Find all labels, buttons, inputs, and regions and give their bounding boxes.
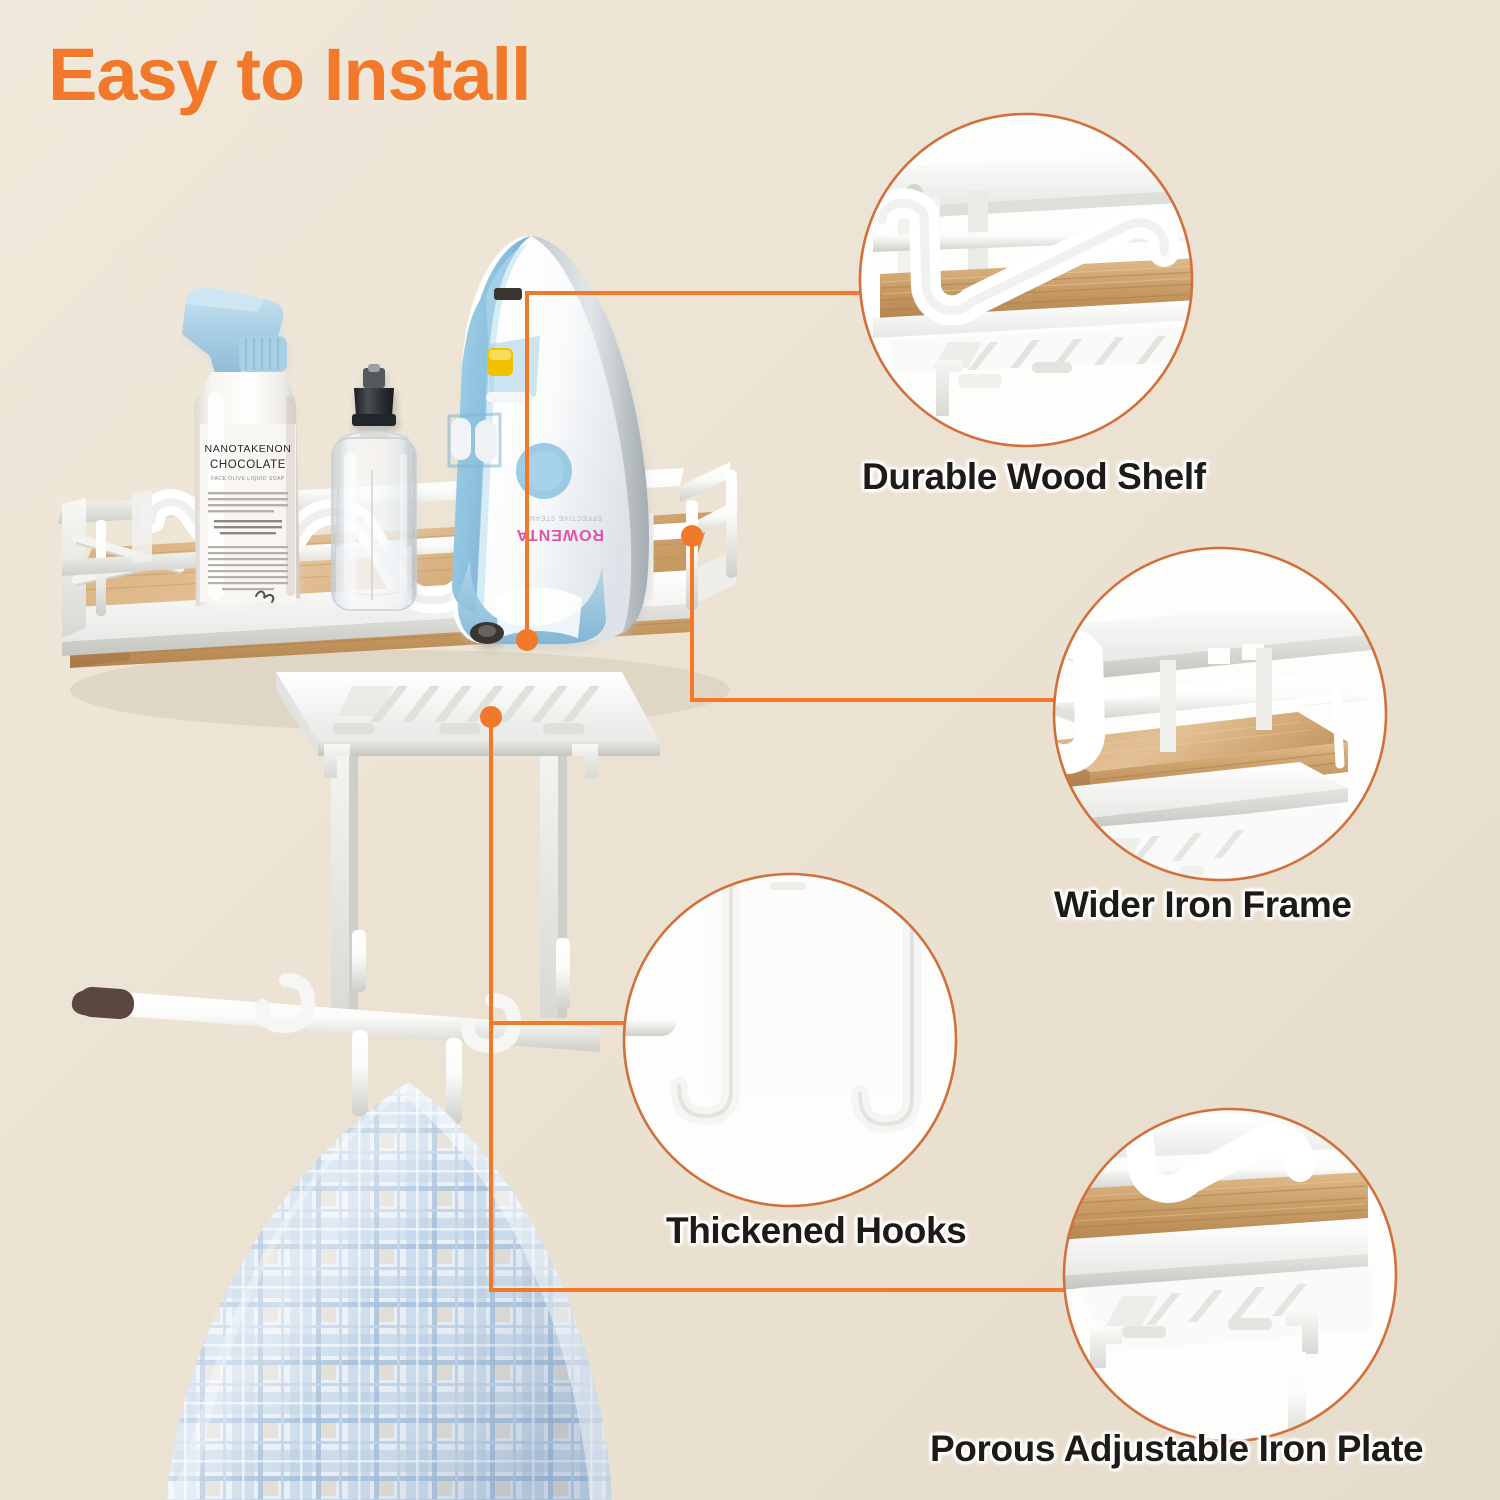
svg-text:CHOCOLATE: CHOCOLATE: [210, 459, 286, 471]
callout-label-porous-adjustable-iron-plate: Porous Adjustable Iron Plate: [930, 1428, 1423, 1470]
dot-iron-frame: [681, 525, 703, 547]
dot-iron-plate: [480, 706, 502, 728]
svg-text:NANOTAKENON: NANOTAKENON: [205, 443, 292, 455]
callout-label-durable-wood-shelf: Durable Wood Shelf: [862, 456, 1206, 498]
product-illustration: NANOTAKENON CHOCOLATE FACE OLIVE LIQUID …: [0, 0, 1500, 1500]
svg-text:FACE OLIVE LIQUID SOAP: FACE OLIVE LIQUID SOAP: [211, 476, 285, 482]
callout-label-thickened-hooks: Thickened Hooks: [666, 1210, 966, 1252]
page-title: Easy to Install: [48, 38, 531, 112]
infographic-canvas: NANOTAKENON CHOCOLATE FACE OLIVE LIQUID …: [0, 0, 1500, 1500]
dot-wood-shelf: [516, 629, 538, 651]
svg-text:EFFECTIVE STEAM: EFFECTIVE STEAM: [528, 514, 602, 521]
callout-label-wider-iron-frame: Wider Iron Frame: [1054, 884, 1352, 926]
